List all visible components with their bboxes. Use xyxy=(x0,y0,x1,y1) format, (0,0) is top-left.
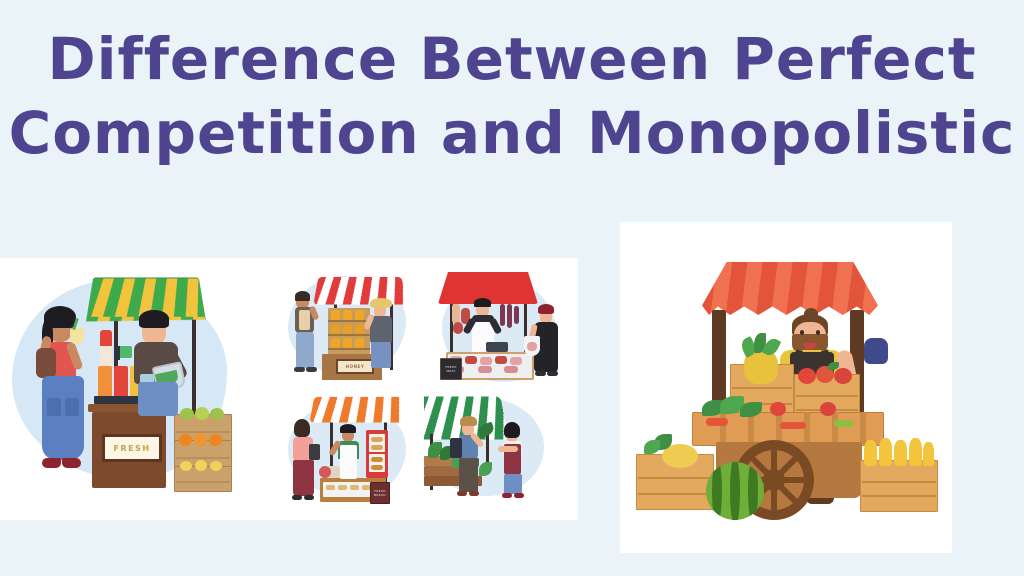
meat-cut xyxy=(480,357,492,365)
straw-hat xyxy=(370,298,392,308)
customer-woman-skirt xyxy=(42,376,84,460)
cart-awning xyxy=(702,262,878,315)
skirt-pocket-right xyxy=(65,398,79,416)
apple-3 xyxy=(210,408,224,420)
meat-cut xyxy=(495,356,507,364)
shelf-line-1 xyxy=(328,320,370,322)
hanging-ham-1 xyxy=(452,304,460,324)
lemon-1 xyxy=(180,461,192,471)
pastry xyxy=(350,485,359,490)
bread-loaf xyxy=(371,465,383,470)
produce-detail xyxy=(706,418,728,426)
corn-cob xyxy=(879,438,892,466)
skirt-pocket-left xyxy=(47,398,61,416)
illustration-produce-cart xyxy=(620,222,952,553)
hanging-sausage-3 xyxy=(514,306,519,324)
crate-corn xyxy=(860,460,938,512)
shop-owner-shoe-left xyxy=(502,493,512,498)
customer-man-shoe-left xyxy=(457,491,467,496)
farmer-cart-panel xyxy=(620,222,952,553)
shop-owner-hair xyxy=(504,422,520,438)
illustration-plant-shop xyxy=(424,390,576,516)
juice-dispenser-1 xyxy=(98,366,112,396)
illustration-butcher-stand: FRESH MEAT xyxy=(428,264,576,394)
pastry xyxy=(338,485,347,490)
rail-slat xyxy=(832,412,838,444)
customer-man-hair xyxy=(295,291,310,301)
honey-jar xyxy=(331,324,340,334)
customer-woman-skirt xyxy=(293,460,314,496)
illustration-juice-stand: FRESH xyxy=(4,262,272,516)
lemon-3 xyxy=(210,461,222,471)
pastry xyxy=(326,485,335,490)
produce-detail xyxy=(780,422,806,429)
vendor-hair xyxy=(139,310,169,328)
customer-woman-hair-bun xyxy=(538,304,554,314)
hanging-meat-2 xyxy=(453,322,463,334)
apple-2 xyxy=(195,407,209,420)
fresh-sign: FRESH xyxy=(102,434,162,462)
customer-man-shoe-left xyxy=(294,367,305,372)
juice-dispenser-2 xyxy=(114,366,128,396)
produce-detail xyxy=(834,420,854,427)
lemon-2 xyxy=(195,460,207,471)
honey-jar xyxy=(355,324,364,334)
illustration-bakery-stand: FRESH BREAD xyxy=(278,392,426,516)
farmer-eye-right xyxy=(816,330,820,335)
tomato xyxy=(770,402,786,416)
butcher-hair xyxy=(474,298,491,307)
bakery-awning xyxy=(309,397,406,423)
drink-cup xyxy=(70,328,84,344)
vendor-woman-top xyxy=(370,316,392,344)
honey-jar xyxy=(355,338,364,348)
orange-1 xyxy=(179,434,192,446)
customer-man-shoe-right xyxy=(469,491,479,496)
honey-jar xyxy=(331,338,340,348)
tomato xyxy=(798,368,816,384)
juice-tower-cream xyxy=(100,346,112,366)
shelf-line-2 xyxy=(328,334,370,336)
farmer-eye-left xyxy=(800,330,804,335)
bread-loaf xyxy=(371,437,383,442)
customer-woman-shoe-left xyxy=(292,495,302,500)
tomato xyxy=(820,402,836,416)
market-stalls-panel: FRESH xyxy=(0,258,578,520)
customer-woman-hair xyxy=(294,419,310,437)
fresh-meat-chalkboard: FRESH MEAT xyxy=(440,358,462,380)
honey-sign: HONEY xyxy=(336,359,374,374)
meat-cut xyxy=(510,357,522,365)
juice-tower-green xyxy=(118,346,132,358)
wheel-hub xyxy=(763,469,785,491)
vendor-woman-apron xyxy=(340,445,357,479)
shelf-line-3 xyxy=(328,348,370,350)
tomato xyxy=(834,368,852,384)
shop-owner-shoe-right xyxy=(514,493,524,498)
rail-slat xyxy=(720,412,726,444)
hanging-sausage-2 xyxy=(507,304,512,328)
corn-cob xyxy=(909,438,922,466)
shop-owner-arms-crossed xyxy=(498,446,518,452)
honey-jar xyxy=(343,310,352,320)
customer-man-shoe-right xyxy=(306,367,317,372)
corn-cob xyxy=(894,440,907,466)
vendor-woman-hair xyxy=(340,424,356,433)
honey-jar xyxy=(343,324,352,334)
customer-man-apron xyxy=(299,310,310,330)
shop-owner-jeans xyxy=(504,474,522,494)
title-line-1: Difference Between Perfect xyxy=(0,22,1024,96)
farmer-top-knot xyxy=(804,308,818,320)
title-line-2: Competition and Monopolistic xyxy=(0,96,1024,170)
honey-awning xyxy=(313,277,406,304)
customer-woman-shoe-right xyxy=(304,495,314,500)
honey-jar xyxy=(331,310,340,320)
vendor-woman-skirt xyxy=(371,342,391,368)
rail-slat xyxy=(860,412,866,444)
customer-woman-shoe-right xyxy=(547,371,558,376)
chalk-line-2: MEAT xyxy=(446,369,455,373)
customer-man-backpack xyxy=(450,438,462,458)
orange-2 xyxy=(194,433,207,446)
orange-3 xyxy=(209,434,222,446)
corn-cob xyxy=(864,440,877,466)
customer-man-jeans xyxy=(296,332,314,368)
weighing-scale xyxy=(486,342,508,352)
watermelon xyxy=(706,462,764,520)
apple-1 xyxy=(180,408,194,420)
honey-jar xyxy=(343,338,352,348)
customer-woman-shoe-right xyxy=(62,458,81,468)
vendor-pants xyxy=(138,382,178,416)
customer-woman-shoe-left xyxy=(42,458,61,468)
honey-jar xyxy=(355,310,364,320)
meat-cut xyxy=(465,356,477,364)
dispenser-tap xyxy=(114,346,120,360)
handbag xyxy=(309,444,320,460)
customer-woman-shoe-left xyxy=(535,371,546,376)
page-title: Difference Between Perfect Competition a… xyxy=(0,22,1024,170)
customer-woman-backpack xyxy=(36,348,56,378)
customer-man-pants xyxy=(459,458,478,492)
bakery-chalkboard: FRESH BREAD xyxy=(370,482,390,504)
illustration-honey-stand: HONEY xyxy=(278,266,426,388)
meat-cut xyxy=(504,366,518,373)
awning-pole-right xyxy=(486,432,489,462)
farmer-glove-waving xyxy=(864,338,888,364)
bag-contents xyxy=(527,342,537,351)
slide-canvas: Difference Between Perfect Competition a… xyxy=(0,0,1024,576)
bread-loaf xyxy=(371,445,383,450)
hanging-sausage-1 xyxy=(500,304,505,326)
customer-man-hat xyxy=(460,416,477,426)
jam-jar xyxy=(319,466,331,478)
corn-cob xyxy=(923,442,934,466)
chalk-line-2: BREAD xyxy=(374,493,386,497)
broccoli xyxy=(644,440,660,454)
meat-cut xyxy=(478,366,492,373)
bread-loaf xyxy=(371,457,383,462)
